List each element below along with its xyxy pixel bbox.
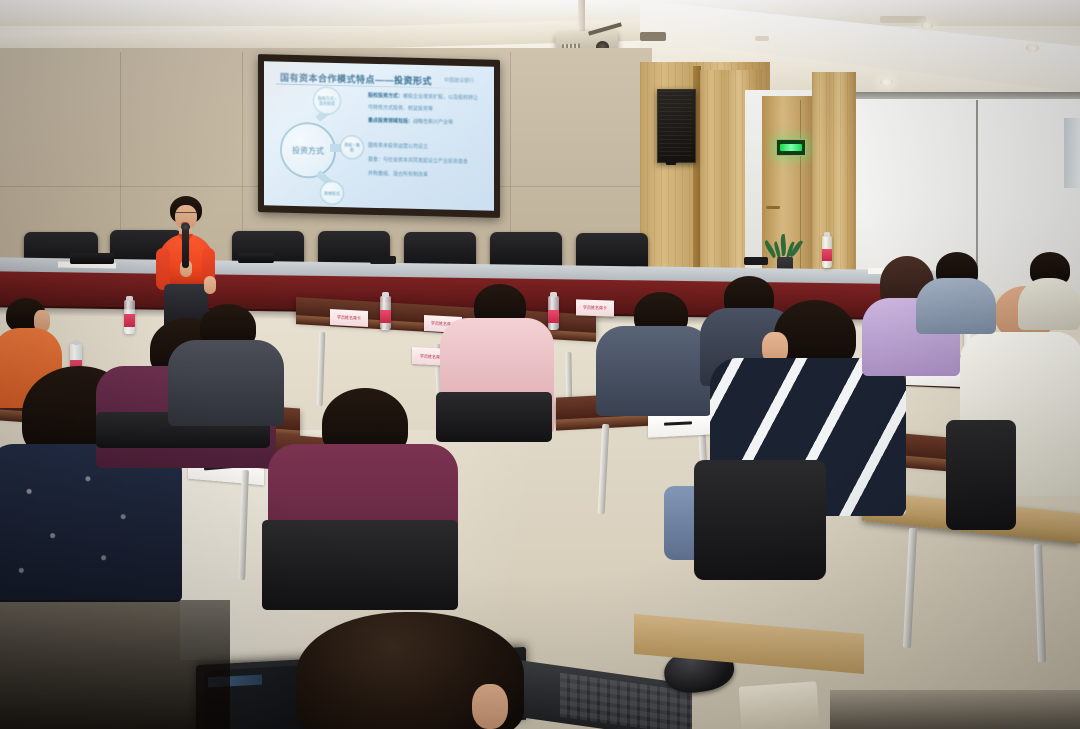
speaker-grille [659,91,692,159]
partition-track [856,92,1080,99]
foreground-shadow-left [0,600,230,729]
ceiling-sensor [755,36,769,41]
head-table-mic-base-1 [370,256,396,264]
exit-sign-glow [780,144,802,151]
chair-back-center-1[interactable] [262,520,458,610]
window-strip [1064,118,1080,188]
water-bottle-2[interactable] [380,296,391,330]
presenter-hand-right [204,276,216,294]
conference-room-photo: 国有资本合作模式特点——投资形式 中国建设银行 投资方式 股权方式 / 混合投资… [0,0,1080,729]
foreground-notebook[interactable] [739,681,820,729]
attendee-foreground-head [296,612,524,729]
foreground-shadow-right [830,690,1080,729]
attendee-lightblue [916,252,996,334]
head-table-monitor [70,253,114,264]
microphone-head [181,223,190,231]
head-table-nameplate [238,253,274,263]
ceiling-spotlight-1 [921,22,933,29]
presenter-glasses [175,212,197,218]
projection-screen[interactable]: 国有资本合作模式特点——投资形式 中国建设银行 投资方式 股权方式 / 混合投资… [264,61,494,211]
projector-mount-pole [578,0,585,34]
head-table-mic-base-2 [744,257,768,265]
door-handle [766,206,780,209]
ceiling-spotlight-2 [1026,44,1039,52]
emergency-exit-sign [776,139,806,156]
ceiling-spotlight-3 [880,78,893,86]
attendee-cream [1018,252,1080,330]
chair-back-right-2[interactable] [946,420,1016,530]
attendee-grey-center [168,304,284,424]
ceiling-speaker-grille [640,32,666,41]
chair-back-right-1[interactable] [694,460,826,580]
screen-glare [264,61,494,211]
chair-back-center-2[interactable] [436,392,552,442]
water-bottle-head-table[interactable] [822,236,832,268]
attendee-slate [596,292,712,416]
ceiling-vent [880,16,926,23]
namecard-1[interactable]: 学员姓名席卡 [330,309,368,327]
microphone[interactable] [182,226,189,268]
